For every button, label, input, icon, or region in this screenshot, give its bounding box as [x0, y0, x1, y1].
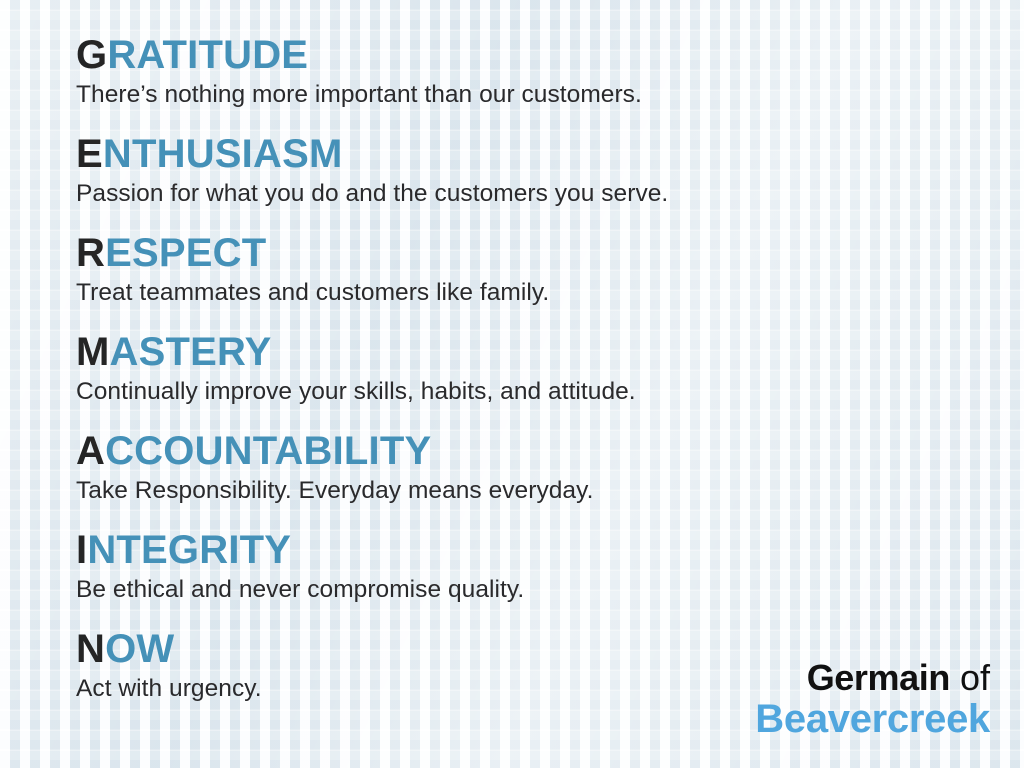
value-description-mastery: Continually improve your skills, habits,…: [76, 377, 976, 407]
value-heading-remainder: CCOUNTABILITY: [105, 429, 431, 473]
value-heading-integrity: INTEGRITY: [76, 527, 976, 573]
value-block-mastery: MASTERY Continually improve your skills,…: [76, 329, 976, 407]
values-list: GRATITUDE There’s nothing more important…: [76, 32, 976, 704]
value-description-respect: Treat teammates and customers like famil…: [76, 278, 976, 308]
value-initial-letter: M: [76, 330, 110, 374]
values-poster: GRATITUDE There’s nothing more important…: [0, 0, 1024, 768]
brand-logo-line-primary: Germain of: [755, 659, 990, 697]
value-block-gratitude: GRATITUDE There’s nothing more important…: [76, 32, 976, 110]
brand-logo-name: Germain: [807, 657, 950, 698]
value-heading-remainder: OW: [105, 627, 174, 671]
value-initial-letter: A: [76, 429, 105, 473]
value-block-accountability: ACCOUNTABILITY Take Responsibility. Ever…: [76, 428, 976, 506]
value-heading-enthusiasm: ENTHUSIASM: [76, 131, 976, 177]
value-block-integrity: INTEGRITY Be ethical and never compromis…: [76, 527, 976, 605]
value-heading-accountability: ACCOUNTABILITY: [76, 428, 976, 474]
value-initial-letter: I: [76, 528, 87, 572]
value-initial-letter: G: [76, 33, 107, 77]
value-description-gratitude: There’s nothing more important than our …: [76, 80, 976, 110]
value-heading-remainder: NTHUSIASM: [103, 132, 343, 176]
value-heading-remainder: RATITUDE: [107, 33, 308, 77]
brand-logo-connector: of: [950, 657, 990, 698]
brand-logo: Germain of Beavercreek: [755, 659, 990, 740]
value-description-enthusiasm: Passion for what you do and the customer…: [76, 179, 976, 209]
value-block-enthusiasm: ENTHUSIASM Passion for what you do and t…: [76, 131, 976, 209]
value-heading-gratitude: GRATITUDE: [76, 32, 976, 78]
value-initial-letter: N: [76, 627, 105, 671]
value-heading-remainder: ASTERY: [110, 330, 272, 374]
value-block-respect: RESPECT Treat teammates and customers li…: [76, 230, 976, 308]
value-description-integrity: Be ethical and never compromise quality.: [76, 575, 976, 605]
value-heading-remainder: ESPECT: [105, 231, 266, 275]
brand-logo-location: Beavercreek: [755, 698, 990, 740]
value-heading-remainder: NTEGRITY: [87, 528, 291, 572]
value-heading-mastery: MASTERY: [76, 329, 976, 375]
value-initial-letter: E: [76, 132, 103, 176]
value-heading-respect: RESPECT: [76, 230, 976, 276]
value-description-accountability: Take Responsibility. Everyday means ever…: [76, 476, 976, 506]
value-initial-letter: R: [76, 231, 105, 275]
